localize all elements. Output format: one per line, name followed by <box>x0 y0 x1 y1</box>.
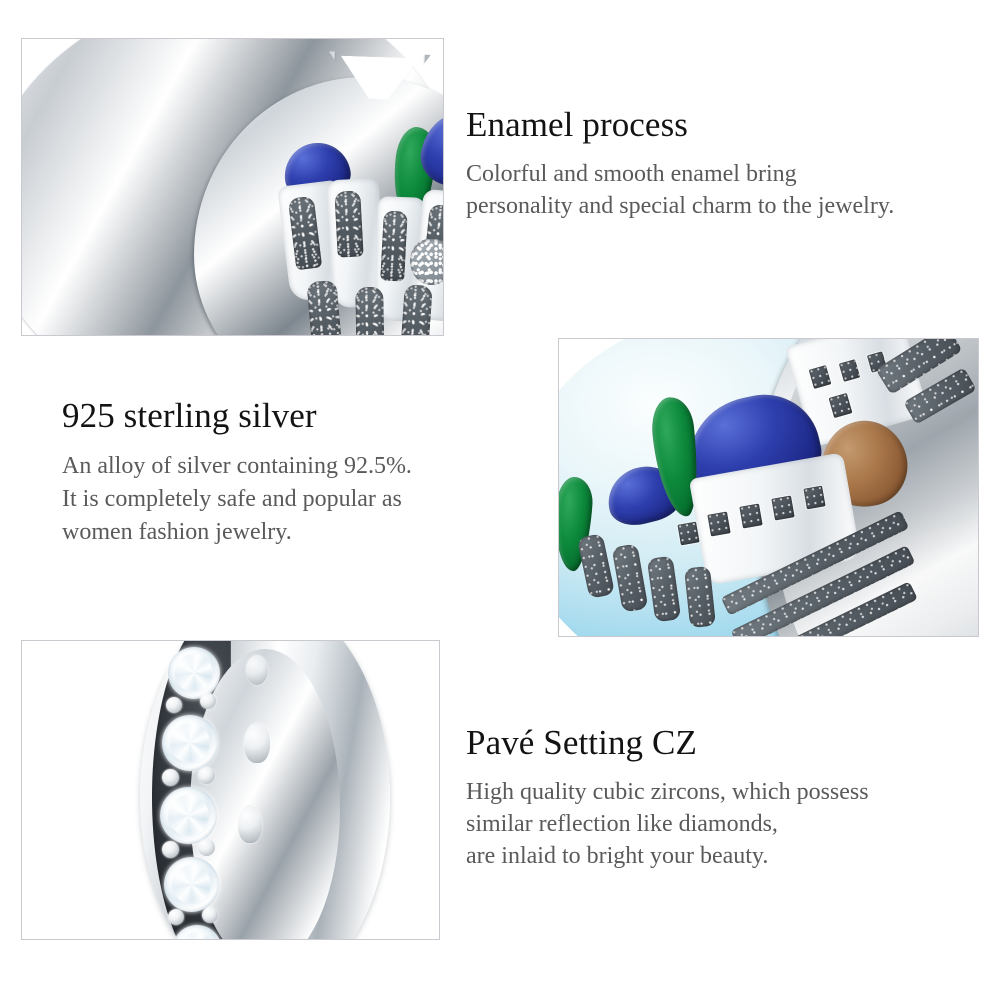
photo-pave-band: S925 <box>22 641 439 939</box>
body-line: It is completely safe and popular as <box>62 483 412 516</box>
infographic-canvas: S925 Enamel process Colorful and smooth … <box>0 0 1001 1001</box>
building-window <box>803 486 825 510</box>
santorini-town-cluster <box>559 339 978 636</box>
inner-wall-highlight <box>246 655 268 685</box>
building-window <box>771 495 795 520</box>
photo-santorini-detail <box>559 339 978 636</box>
body-line: are inlaid to bright your beauty. <box>466 840 869 872</box>
building-window <box>677 522 699 546</box>
inner-wall-highlight <box>244 723 270 763</box>
setting-prong <box>198 767 215 784</box>
body-line: High quality cubic zircons, which posses… <box>466 776 869 808</box>
oxidized-stone-panel <box>611 543 648 613</box>
setting-prong <box>162 841 179 858</box>
santorini-town-cluster <box>290 135 443 335</box>
body-line: similar reflection like diamonds, <box>466 808 869 840</box>
feature-text-pave: Pavé Setting CZ High quality cubic zirco… <box>466 722 869 872</box>
oxidized-stone-panel <box>399 284 433 335</box>
setting-prong <box>162 769 179 786</box>
setting-prong <box>202 907 218 923</box>
inner-wall-highlight <box>238 805 262 843</box>
feature-title-silver: 925 sterling silver <box>62 395 412 437</box>
cz-stone <box>162 715 218 771</box>
setting-prong <box>166 697 182 713</box>
feature-text-silver: 925 sterling silver An alloy of silver c… <box>62 395 412 549</box>
body-line: Colorful and smooth enamel bring <box>466 158 894 190</box>
oxidized-stone-panel <box>577 533 615 599</box>
oxidized-stone-panel <box>334 190 363 257</box>
feature-title-pave: Pavé Setting CZ <box>466 722 869 764</box>
feature-body-pave: High quality cubic zircons, which posses… <box>466 776 869 872</box>
cz-stone <box>164 857 219 912</box>
setting-prong <box>168 909 184 925</box>
feature-text-enamel: Enamel process Colorful and smooth ename… <box>466 104 894 222</box>
body-line: personality and special charm to the jew… <box>466 190 894 222</box>
feature-body-silver: An alloy of silver containing 92.5%. It … <box>62 450 412 549</box>
feature-title-enamel: Enamel process <box>466 104 894 146</box>
feature-photo-enamel <box>21 38 444 336</box>
oxidized-stone-panel <box>355 287 384 335</box>
body-line: An alloy of silver containing 92.5%. <box>62 450 412 483</box>
cz-stone <box>168 647 220 699</box>
feature-photo-silver <box>558 338 979 637</box>
building-window <box>707 511 731 536</box>
setting-prong <box>200 693 216 709</box>
feature-body-enamel: Colorful and smooth enamel bring persona… <box>466 158 894 222</box>
oxidized-stone-panel <box>647 556 682 623</box>
building-window <box>739 503 763 528</box>
photo-enamel-heart-charm <box>22 39 443 335</box>
setting-prong <box>198 839 215 856</box>
body-line: women fashion jewelry. <box>62 516 412 549</box>
feature-photo-pave: S925 <box>21 640 440 940</box>
oxidized-stone-panel <box>380 210 408 281</box>
cz-stone <box>160 787 217 844</box>
